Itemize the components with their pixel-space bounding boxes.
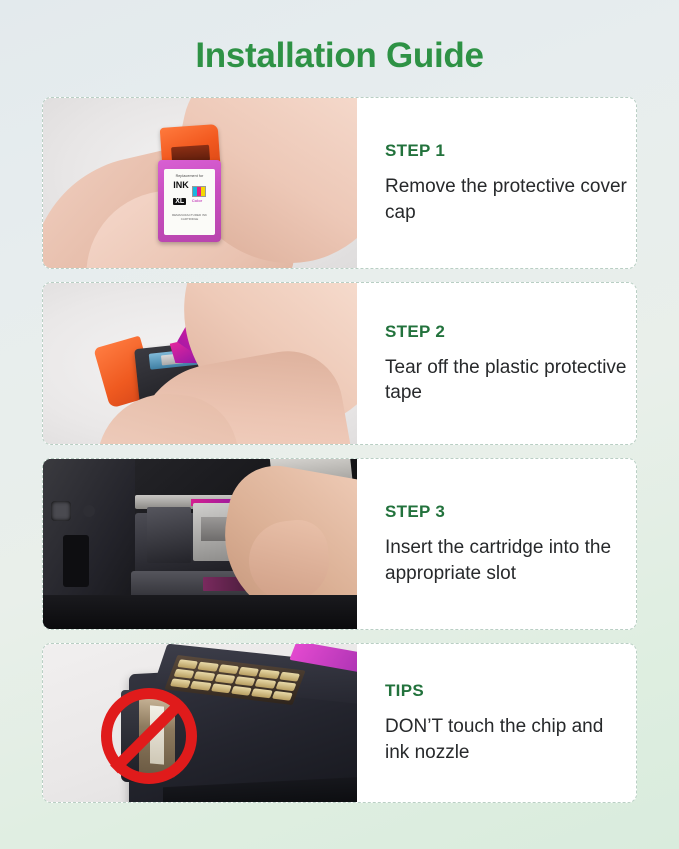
tips-label: TIPS xyxy=(385,681,636,701)
step-1-image: Replacement for INK XL Color xyxy=(43,98,357,268)
tips-image xyxy=(43,644,357,802)
step-3-image xyxy=(43,459,357,629)
cartridge-label-color-text: Color xyxy=(192,198,206,203)
step-card-1: Replacement for INK XL Color xyxy=(42,97,637,269)
step-2-description: Tear off the plastic protective tape xyxy=(385,355,630,406)
step-3-text: STEP 3 Insert the cartridge into the app… xyxy=(357,459,636,629)
prohibition-icon xyxy=(101,688,197,784)
tips-description: DON’T touch the chip and ink nozzle xyxy=(385,714,630,765)
printer-knob xyxy=(51,501,71,521)
tips-text: TIPS DON’T touch the chip and ink nozzle xyxy=(357,644,636,802)
cmy-color-swatch-icon xyxy=(192,186,206,197)
steps-list: Replacement for INK XL Color xyxy=(0,97,679,803)
step-1-description: Remove the protective cover cap xyxy=(385,174,630,225)
cartridge-label-top-text: Replacement for xyxy=(176,174,204,178)
step-card-3: STEP 3 Insert the cartridge into the app… xyxy=(42,458,637,630)
step-2-image xyxy=(43,283,357,444)
step-card-4: TIPS DON’T touch the chip and ink nozzle xyxy=(42,643,637,803)
step-3-description: Insert the cartridge into the appropriat… xyxy=(385,535,630,586)
cartridge-label-brand: INK xyxy=(173,181,189,190)
cartridge-label-size: XL xyxy=(173,198,186,205)
printer-screw xyxy=(83,505,95,517)
cartridge-label-row: INK XL Color xyxy=(173,181,206,208)
page-title: Installation Guide xyxy=(0,0,679,73)
step-3-label: STEP 3 xyxy=(385,502,636,522)
step-card-2: STEP 2 Tear off the plastic protective t… xyxy=(42,282,637,445)
cartridge-label-brand-block: INK XL xyxy=(173,181,189,208)
printer-slot xyxy=(63,535,89,587)
step-1-label: STEP 1 xyxy=(385,141,636,161)
printer-base xyxy=(43,595,357,629)
ink-cartridge: Replacement for INK XL Color xyxy=(158,160,221,242)
step-2-label: STEP 2 xyxy=(385,322,636,342)
cartridge-label-bottom-text: REMANUFACTURED INK CARTRIDGE xyxy=(164,213,215,221)
cartridge-label: Replacement for INK XL Color xyxy=(164,169,215,235)
installed-cartridge xyxy=(147,507,191,563)
step-1-text: STEP 1 Remove the protective cover cap xyxy=(357,98,636,268)
step-2-text: STEP 2 Tear off the plastic protective t… xyxy=(357,283,636,444)
cartridge-label-color-block: Color xyxy=(192,186,206,203)
